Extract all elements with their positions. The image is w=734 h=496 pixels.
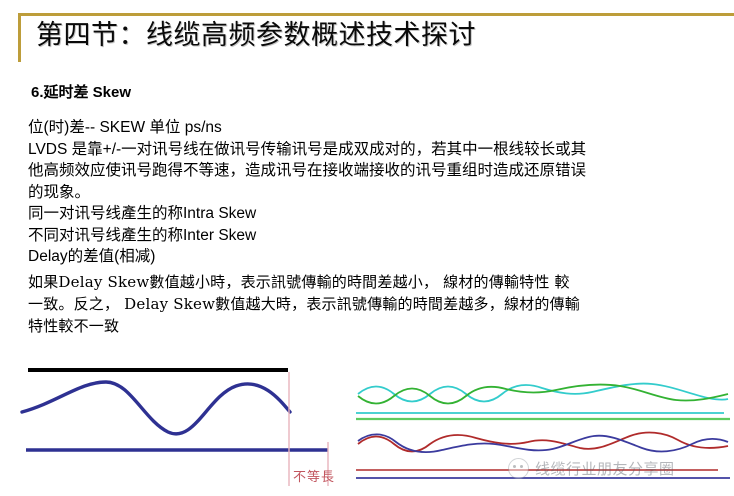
title-rule-left bbox=[18, 13, 21, 62]
body-line-inter-skew: 不同对讯号线產生的称Inter Skew bbox=[28, 225, 728, 247]
body-line-lvds-1: LVDS 是靠+/-一对讯号线在做讯号传输讯号是成双成对的，若其中一根线较长或其 bbox=[28, 139, 728, 161]
watermark-text: 线缆行业朋友分享圈 bbox=[535, 458, 675, 479]
unequal-length-label: 不等長 bbox=[293, 466, 335, 485]
slide-body: 6.延时差 Skew 位(时)差-- SKEW 单位 ps/ns LVDS 是靠… bbox=[28, 82, 728, 337]
body-line-lvds-2: 他高频效应使讯号跑得不等速，造成讯号在接收端接收的讯号重组时造成还原错误 bbox=[28, 160, 728, 182]
slide-title-bar: 第四节：线缆高频参数概述技术探讨 bbox=[0, 0, 734, 72]
wavy-cable-path bbox=[22, 382, 290, 434]
body-line-lvds-3: 的现象。 bbox=[28, 182, 728, 204]
note-line-3: 特性較不一致 bbox=[28, 315, 728, 337]
note-line-2: 一致。反之， Delay Skew數值越大時，表示訊號傳輸的時間差越多，線材的傳… bbox=[28, 293, 728, 315]
page-title: 第四节：线缆高频参数概述技术探讨 bbox=[36, 17, 476, 55]
section-heading: 6.延时差 Skew bbox=[31, 82, 728, 104]
watermark: 线缆行业朋友分享圈 bbox=[508, 458, 675, 479]
wechat-circle-icon bbox=[508, 458, 529, 479]
wave-red bbox=[358, 433, 728, 452]
body-line-delay-diff: Delay的差值(相减) bbox=[28, 246, 728, 268]
body-line-intra-skew: 同一对讯号线產生的称Intra Skew bbox=[28, 203, 728, 225]
body-line-units: 位(时)差-- SKEW 单位 ps/ns bbox=[28, 117, 728, 139]
title-rule-top bbox=[18, 13, 734, 16]
note-line-1: 如果Delay Skew數值越小時，表示訊號傳輸的時間差越小， 線材的傳輸特性 … bbox=[28, 271, 728, 293]
matched-pair-waveform bbox=[352, 380, 730, 424]
